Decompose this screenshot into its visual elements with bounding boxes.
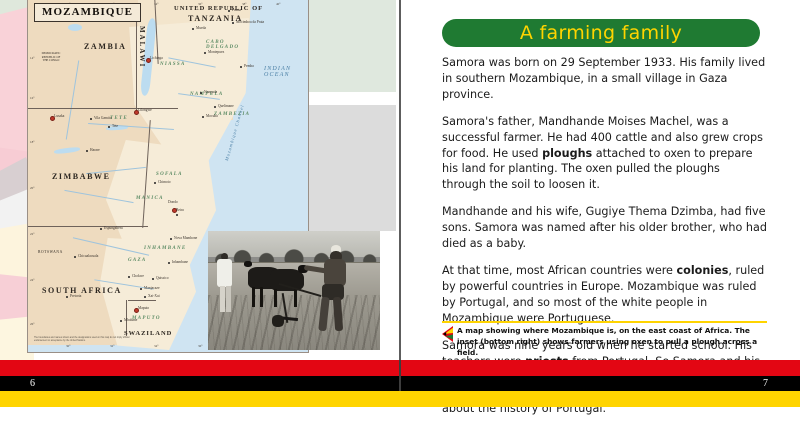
caption-text: A map showing where Mozambique is, on th… xyxy=(457,325,767,358)
map-label-zimbabwe: ZIMBABWE xyxy=(52,172,111,181)
map-label-niassa: NIASSA xyxy=(160,62,186,67)
map-label-inhambane: INHAMBANE xyxy=(144,246,187,251)
map-label-drc: DEMOCRATICREPUBLIC OFTHE CONGO xyxy=(34,52,68,63)
page-number-right: 7 xyxy=(763,378,768,389)
page-number-left: 6 xyxy=(30,378,35,389)
map-label-gaza: GAZA xyxy=(128,258,147,263)
map-city-maputo: Maputo xyxy=(138,306,149,310)
map-label-manica: MANICA xyxy=(136,196,164,201)
chapter-title-text: A farming family xyxy=(520,22,682,44)
map-label-malawi: MALAWI xyxy=(138,26,146,68)
map-city-chokwe: Chokwe xyxy=(132,274,144,278)
map-label-tanzania: TANZANIA xyxy=(188,14,243,23)
map-city-lusaka: Lusaka xyxy=(54,114,64,118)
left-page: 14° 16° 18° 20° 22° 24° 26° 30° 32° 34° … xyxy=(0,0,400,360)
map-city-chimoio: Chimoio xyxy=(158,180,171,184)
map-city-pemba: Pemba xyxy=(244,64,254,68)
footer-spine xyxy=(399,360,401,391)
map-city-dondo: Dondo xyxy=(168,200,178,204)
caption-divider xyxy=(442,321,767,323)
map-title: MOZAMBIQUE xyxy=(34,3,141,22)
map-city-espungabera: Espungabera xyxy=(104,226,123,230)
map-city-manjacaze: Manjacaze xyxy=(144,286,160,290)
map-city-palma: Palma xyxy=(232,8,241,12)
figure-caption: A map showing where Mozambique is, on th… xyxy=(442,325,767,358)
map-label-south-africa: SOUTH AFRICA xyxy=(42,286,122,295)
map-city-mueda: Mueda xyxy=(196,26,206,30)
map-label-botswana: BOTSWANA xyxy=(38,250,63,254)
map-label-indian-ocean: INDIANOCEAN xyxy=(264,66,291,78)
map-city-vila-gamito: Vila Gamito xyxy=(94,116,112,120)
map-city-montepuez: Montepuez xyxy=(208,50,224,54)
map-city-nampula: Nampula xyxy=(204,90,217,94)
paragraph-3: Mandhande and his wife, Gugiye Thema Dzi… xyxy=(442,204,767,252)
map-disclaimer: The boundaries and names shown and the d… xyxy=(34,337,130,343)
paragraph-1: Samora was born on 29 September 1933. Hi… xyxy=(442,55,767,103)
map-city-mbabane: Mbabane xyxy=(124,318,137,322)
map-city-mocuba: Mocuba xyxy=(206,114,218,118)
map-label-zambia: ZAMBIA xyxy=(84,42,127,51)
footer-bar-yellow xyxy=(0,391,800,407)
map-city-lilongwe: Lilongwe xyxy=(138,108,152,112)
paragraph-2: Samora's father, Mandhande Moises Machel… xyxy=(442,114,767,194)
map-city-pretoria: Pretoria xyxy=(70,294,81,298)
map-label-zambezia: ZAMBEZIA xyxy=(214,112,250,117)
map-city-beira: Beira xyxy=(176,208,184,212)
map-label-tanzania-line1: UNITED REPUBLIC OF xyxy=(174,5,263,12)
map-city-xai-xai: Xai-Xai xyxy=(148,294,160,298)
map-label-swaziland: SWAZILAND xyxy=(124,330,172,337)
right-page: A farming family Samora was born on 29 S… xyxy=(401,0,800,360)
map-city-quissico: Quissico xyxy=(156,276,169,280)
map-city-chicualacuala: Chicualacuala xyxy=(78,254,98,258)
inset-photograph xyxy=(208,231,380,350)
map-city-nova-mambone: Nova Mambone xyxy=(174,236,197,240)
map-city-harare: Harare xyxy=(90,148,100,152)
map-label-cabo-delgado: CABODELGADO xyxy=(206,40,239,50)
paragraph-4: At that time, most African countries wer… xyxy=(442,263,767,327)
map-city-inhambane: Inhambane xyxy=(172,260,188,264)
chapter-title-banner: A farming family xyxy=(442,19,760,47)
map-city-mocimboa: Mocimboa da Praia xyxy=(236,20,264,24)
map-city-tete: Tete xyxy=(112,124,118,128)
map-city-lichinga: Lichinga xyxy=(150,56,163,60)
flag-triangle-icon xyxy=(442,326,453,342)
map-label-tete: TETE xyxy=(110,116,128,121)
decorative-grey-block xyxy=(306,105,396,231)
decorative-green-block xyxy=(306,0,396,92)
map-city-quelimane: Quelimane xyxy=(218,104,234,108)
book-spread: 14° 16° 18° 20° 22° 24° 26° 30° 32° 34° … xyxy=(0,0,800,407)
map-label-sofala: SOFALA xyxy=(156,172,183,177)
